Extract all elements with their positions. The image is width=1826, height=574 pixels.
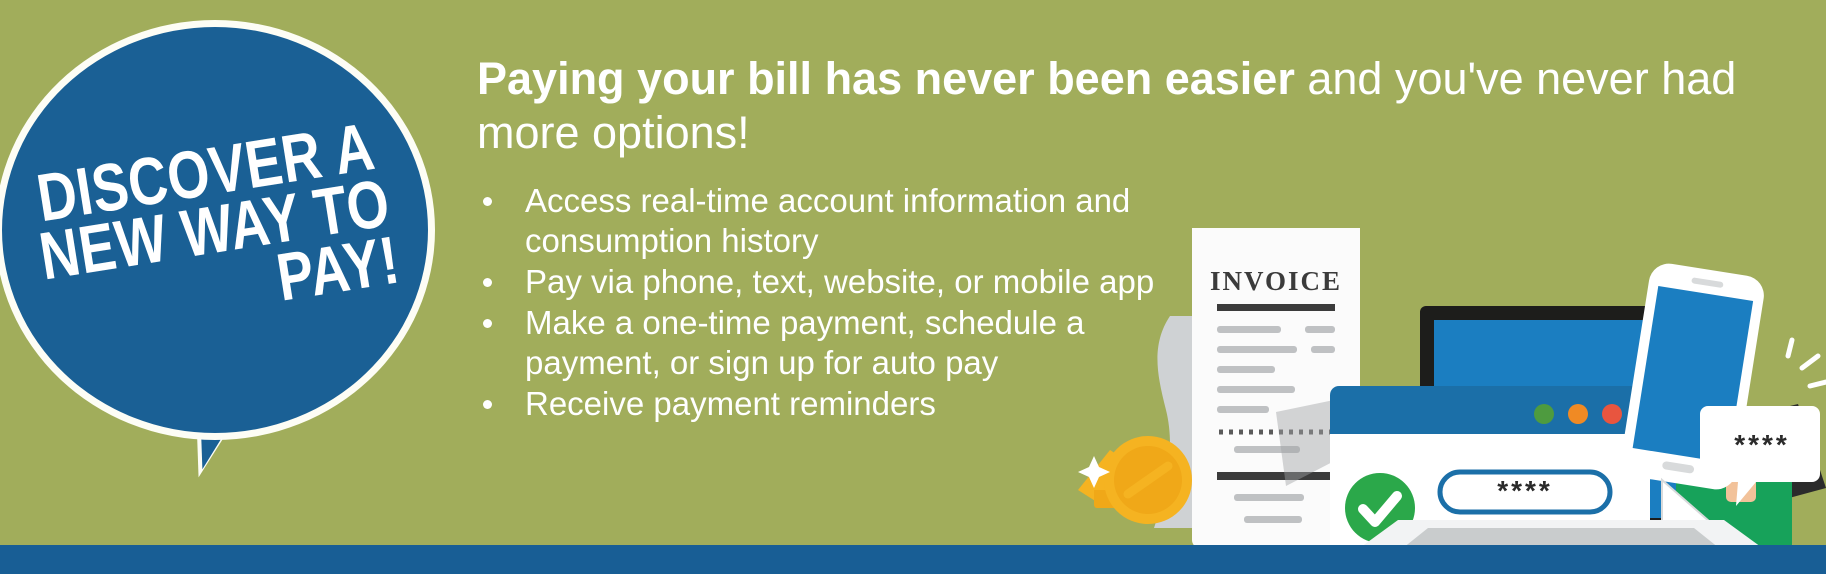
card-number-value: **** [1497,475,1553,506]
headline-bold: Paying your bill has never been easier [477,53,1295,104]
invoice-rule-shape [1217,304,1335,311]
sms-masked-value: **** [1734,429,1790,460]
invoice-line-shape [1217,366,1275,373]
payment-illustration: INVOICE * [1062,228,1826,574]
list-item-label: Access real-time account information and… [525,182,1130,259]
invoice-line-shape [1234,494,1304,501]
invoice-total-rule-shape [1217,472,1335,480]
discover-badge: DISCOVER A NEW WAY TO PAY! [0,20,455,490]
list-item-label: Pay via phone, text, website, or mobile … [525,263,1154,300]
bullet-dot-icon [483,400,492,409]
bullet-dot-icon [483,278,492,287]
invoice-title: INVOICE [1210,266,1342,296]
payment-promo-banner: DISCOVER A NEW WAY TO PAY! Paying your b… [0,0,1826,574]
coin-stack-shape [1078,436,1192,524]
notification-rays-icon [1788,340,1826,386]
payment-window-titlebar-shape [1330,386,1650,434]
invoice-line-shape [1217,406,1269,413]
badge-text-group: DISCOVER A NEW WAY TO PAY! [0,0,465,472]
window-dot-orange-icon [1568,404,1588,424]
invoice-line-shape [1305,326,1335,333]
window-dot-green-icon [1534,404,1554,424]
invoice-line-shape [1217,346,1297,353]
invoice-line-shape [1311,346,1335,353]
list-item-label: Make a one-time payment, schedule a paym… [525,304,1084,381]
window-dot-red-icon [1602,404,1622,424]
invoice-line-shape [1217,386,1295,393]
bottom-accent-bar [0,545,1826,574]
list-item-label: Receive payment reminders [525,385,936,422]
bullet-dot-icon [483,319,492,328]
page-title: Paying your bill has never been easier a… [477,52,1817,159]
invoice-line-shape [1244,516,1302,523]
bullet-dot-icon [483,197,492,206]
invoice-line-shape [1217,326,1281,333]
